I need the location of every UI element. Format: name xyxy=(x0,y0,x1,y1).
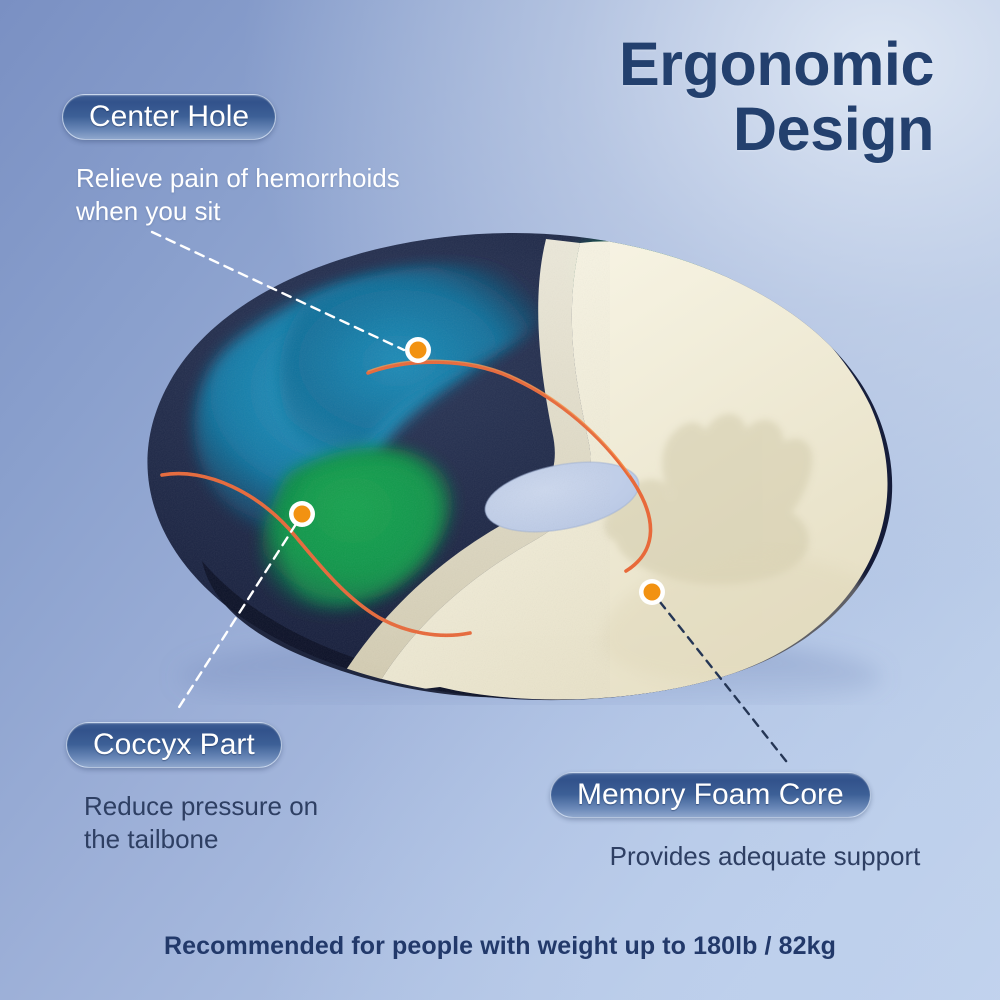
description-center-hole: Relieve pain of hemorrhoids when you sit xyxy=(76,162,496,229)
footer-recommendation: Recommended for people with weight up to… xyxy=(0,932,1000,961)
leader-line-center-hole xyxy=(152,232,404,350)
marker-memory-foam[interactable] xyxy=(639,579,665,605)
badge-memory-foam-core[interactable]: Memory Foam Core xyxy=(550,772,871,818)
badge-center-hole[interactable]: Center Hole xyxy=(62,94,276,140)
description-memory-foam-core: Provides adequate support xyxy=(565,840,965,873)
badge-coccyx-part[interactable]: Coccyx Part xyxy=(66,722,282,768)
leader-line-memory-foam xyxy=(660,602,790,766)
infographic-canvas: Ergonomic Design xyxy=(0,0,1000,1000)
marker-center-hole[interactable] xyxy=(405,337,431,363)
description-coccyx-part: Reduce pressure on the tailbone xyxy=(84,790,414,857)
leader-line-coccyx xyxy=(176,524,296,712)
marker-coccyx[interactable] xyxy=(289,501,315,527)
